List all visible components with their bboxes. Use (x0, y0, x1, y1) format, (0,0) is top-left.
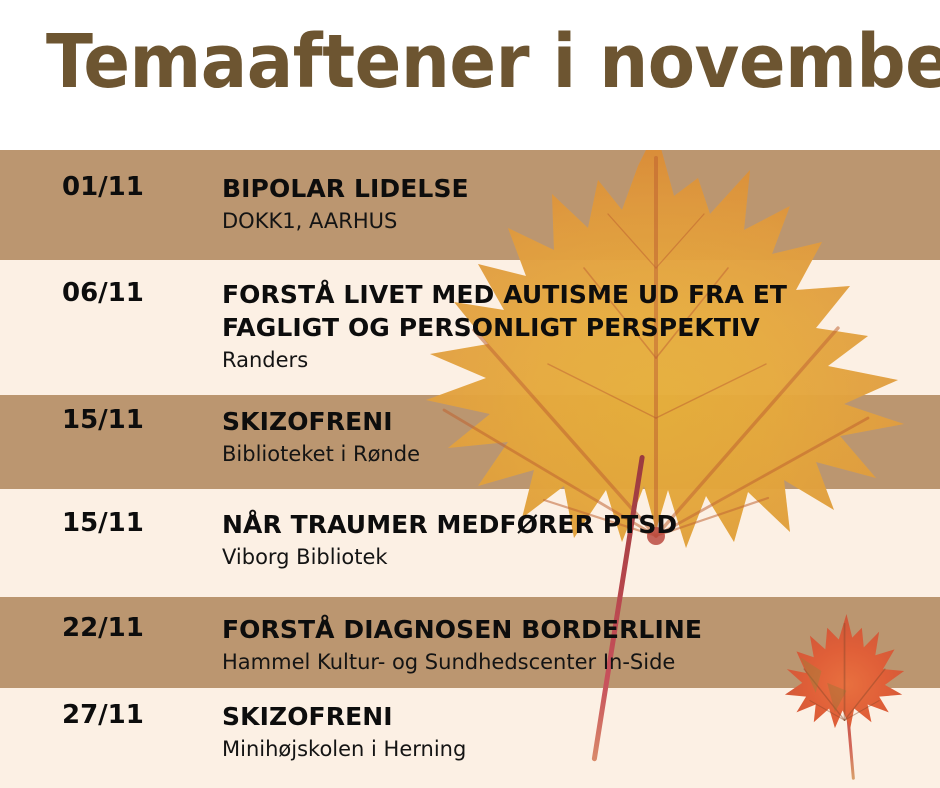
event-venue: Randers (222, 347, 930, 374)
event-body: BIPOLAR LIDELSE DOKK1, AARHUS (222, 172, 930, 235)
event-body: NÅR TRAUMER MEDFØRER PTSD Viborg Bibliot… (222, 508, 930, 571)
event-venue: Minihøjskolen i Herning (222, 736, 930, 763)
event-title: SKIZOFRENI (222, 700, 930, 733)
event-body: FORSTÅ LIVET MED AUTISME UD FRA ET FAGLI… (222, 278, 930, 374)
event-date: 27/11 (62, 700, 212, 730)
event-date: 06/11 (62, 278, 212, 308)
event-body: SKIZOFRENI Minihøjskolen i Herning (222, 700, 930, 763)
event-title: NÅR TRAUMER MEDFØRER PTSD (222, 508, 930, 541)
event-date: 15/11 (62, 508, 212, 538)
event-venue: Hammel Kultur- og Sundhedscenter In-Side (222, 649, 930, 676)
poster-header: Temaaftener i november (0, 0, 940, 150)
event-title: FORSTÅ DIAGNOSEN BORDERLINE (222, 613, 930, 646)
event-title: SKIZOFRENI (222, 405, 930, 438)
event-venue: Viborg Bibliotek (222, 544, 930, 571)
event-venue: Biblioteket i Rønde (222, 441, 930, 468)
event-title: FORSTÅ LIVET MED AUTISME UD FRA ET FAGLI… (222, 278, 930, 344)
poster-canvas: Temaaftener i november 01/11 BIPOLAR LID… (0, 0, 940, 788)
event-venue: DOKK1, AARHUS (222, 208, 930, 235)
event-date: 01/11 (62, 172, 212, 202)
event-body: FORSTÅ DIAGNOSEN BORDERLINE Hammel Kultu… (222, 613, 930, 676)
page-title: Temaaftener i november (46, 24, 940, 102)
event-date: 22/11 (62, 613, 212, 643)
event-title: BIPOLAR LIDELSE (222, 172, 930, 205)
event-body: SKIZOFRENI Biblioteket i Rønde (222, 405, 930, 468)
event-date: 15/11 (62, 405, 212, 435)
